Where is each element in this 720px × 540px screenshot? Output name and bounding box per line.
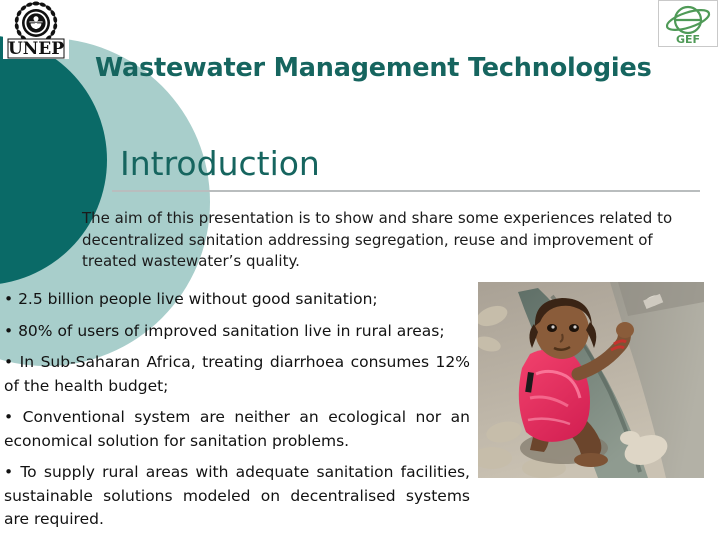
gef-logo: GEF: [658, 0, 718, 47]
list-item: • Conventional system are neither an eco…: [4, 406, 470, 453]
list-item: • In Sub-Saharan Africa, treating diarrh…: [4, 351, 470, 398]
list-item: • To supply rural areas with adequate sa…: [4, 461, 470, 532]
unep-logo: UNEP: [3, 1, 69, 59]
slide-title: Wastewater Management Technologies: [95, 53, 705, 83]
list-item: • 2.5 billion people live without good s…: [4, 288, 470, 312]
heading-divider: [112, 190, 700, 192]
sanitation-photo-image: [478, 282, 704, 478]
gef-logo-text: GEF: [676, 33, 700, 46]
slide-canvas: UNEP GEF Wastewater Management Technolog…: [0, 0, 720, 540]
unep-logo-text: UNEP: [8, 39, 64, 59]
bullet-list: • 2.5 billion people live without good s…: [4, 288, 470, 532]
list-item: • 80% of users of improved sanitation li…: [4, 320, 470, 344]
intro-paragraph: The aim of this presentation is to show …: [82, 208, 682, 273]
section-heading: Introduction: [120, 144, 320, 183]
sanitation-photo: [478, 282, 704, 478]
